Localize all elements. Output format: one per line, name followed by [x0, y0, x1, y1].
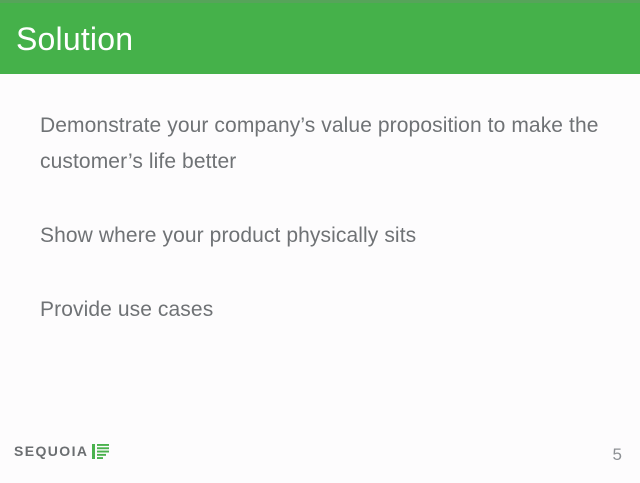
page-number: 5	[613, 445, 622, 465]
slide-header-band: Solution	[0, 0, 640, 74]
slide-footer: SEQUOIA 5	[0, 431, 640, 483]
sequoia-logo: SEQUOIA	[14, 443, 109, 459]
page-title: Solution	[16, 20, 133, 58]
body-block: Show where your product physically sits	[40, 218, 610, 254]
slide-body: Demonstrate your company’s value proposi…	[40, 108, 610, 328]
sequoia-leaf-icon	[92, 444, 109, 459]
logo-wordmark: SEQUOIA	[14, 443, 88, 459]
body-block: Provide use cases	[40, 292, 610, 328]
body-block: Demonstrate your company’s value proposi…	[40, 108, 600, 180]
header-top-rule	[0, 0, 640, 3]
slide: Solution Demonstrate your company’s valu…	[0, 0, 640, 483]
